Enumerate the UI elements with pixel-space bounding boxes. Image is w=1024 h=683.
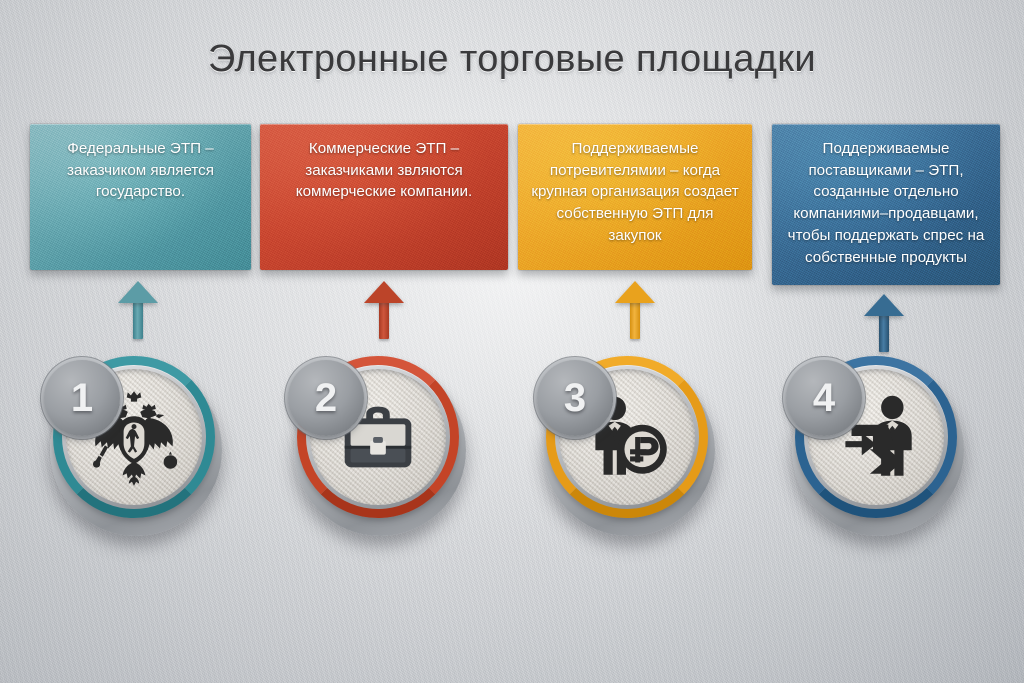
arrow-head-2 [364, 281, 404, 303]
step-card-3: Поддерживаемые потревителямии – когда кр… [518, 124, 752, 270]
step-card-4: Поддерживаемые поставщиками – ЭТП, созда… [772, 124, 1000, 285]
arrow-head-3 [615, 281, 655, 303]
arrow-head-4 [864, 294, 904, 316]
step-badge-2: 2 [288, 360, 364, 436]
step-card-3-text: Поддерживаемые потревителямии – когда кр… [528, 138, 742, 247]
step-medallion-4: 4 [790, 352, 966, 528]
arrow-head-1 [118, 281, 158, 303]
step-badge-3-number: 3 [564, 378, 586, 418]
step-card-2-text: Коммерческие ЭТП – заказчиками звляются … [270, 138, 498, 203]
arrow-up-icon-2 [364, 281, 404, 339]
step-medallion-2: 2 [292, 352, 468, 528]
step-badge-2-number: 2 [315, 378, 337, 418]
arrow-shaft-4 [879, 312, 889, 352]
arrow-shaft-2 [379, 299, 389, 339]
step-medallion-3: 3 [541, 352, 717, 528]
step-card-1-text: Федеральные ЭТП – заказчиком является го… [40, 138, 241, 203]
step-card-2: Коммерческие ЭТП – заказчиками звляются … [260, 124, 508, 270]
arrow-shaft-1 [133, 299, 143, 339]
infographic-canvas: Электронные торговые площадки Федеральны… [0, 0, 1024, 683]
step-badge-1-number: 1 [71, 378, 93, 418]
arrow-up-icon-1 [118, 281, 158, 339]
step-badge-1: 1 [44, 360, 120, 436]
step-card-1: Федеральные ЭТП – заказчиком является го… [30, 124, 251, 270]
arrow-up-icon-3 [615, 281, 655, 339]
arrow-up-icon-4 [864, 294, 904, 352]
step-card-4-text: Поддерживаемые поставщиками – ЭТП, созда… [782, 138, 990, 268]
step-badge-4-number: 4 [813, 378, 835, 418]
page-title: Электронные торговые площадки [0, 38, 1024, 81]
arrow-shaft-3 [630, 299, 640, 339]
step-badge-3: 3 [537, 360, 613, 436]
step-badge-4: 4 [786, 360, 862, 436]
step-medallion-1: 1 [48, 352, 224, 528]
